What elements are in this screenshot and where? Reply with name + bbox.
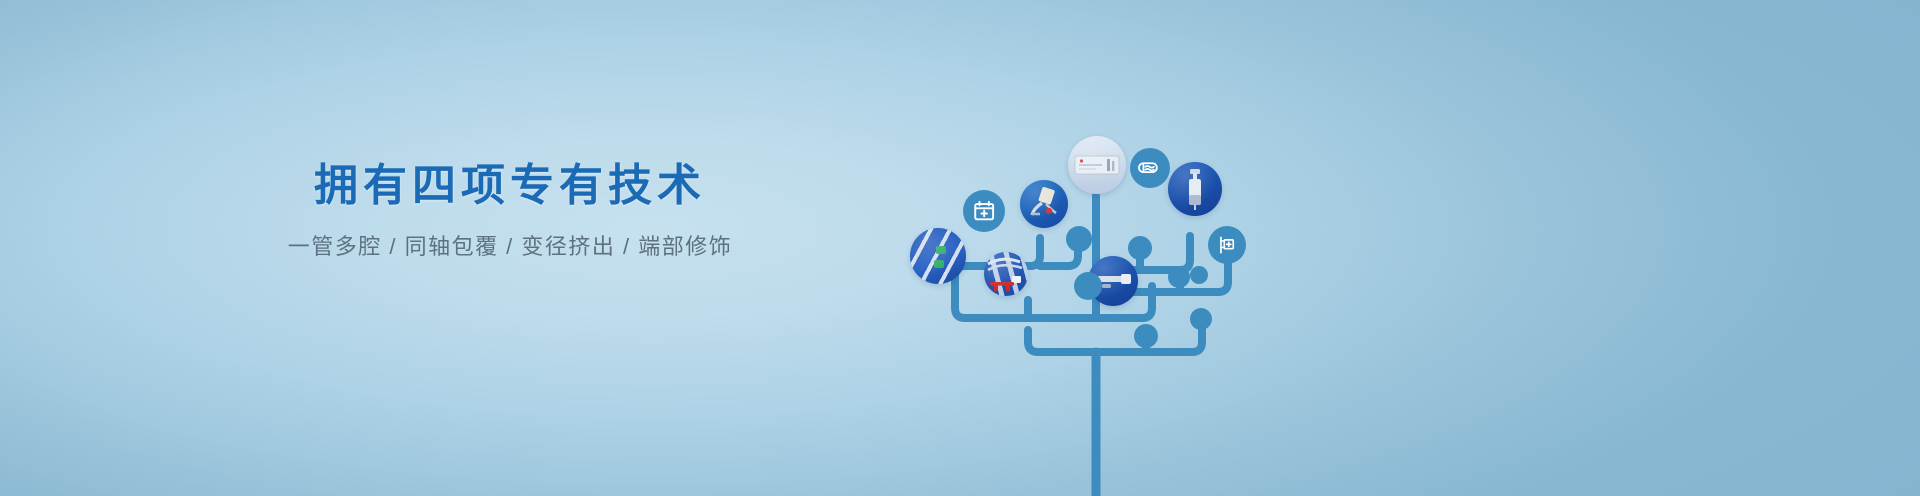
package-illustration	[1068, 136, 1126, 194]
hero-banner: 拥有四项专有技术 一管多腔 / 同轴包覆 / 变径挤出 / 端部修饰	[0, 0, 1920, 496]
branch-dot-mid	[1074, 272, 1102, 300]
hospital-sign-icon-node[interactable]: hospital-sign-icon-node	[1208, 226, 1246, 264]
hero-copy-block: 拥有四项专有技术 一管多腔 / 同轴包覆 / 变径挤出 / 端部修饰	[0, 160, 1020, 260]
face-mask-icon-node[interactable]: face-mask-icon-node	[1130, 148, 1170, 188]
branch-dot-upper-right	[1168, 266, 1190, 288]
syringe-illustration	[1168, 162, 1222, 216]
tubing-marker	[934, 260, 944, 268]
syringe-photo-node[interactable]: syringe-photo-node	[1168, 162, 1222, 216]
branch-dot-left	[1066, 226, 1092, 252]
branch-dot-right	[1134, 324, 1158, 348]
branch-dot-small-right	[1190, 266, 1208, 284]
branch-dot-center	[1128, 236, 1152, 260]
package-photo-node[interactable]: package-photo-node	[1068, 136, 1126, 194]
valve-illustration	[1020, 180, 1068, 228]
valve-photo-node[interactable]: valve-photo-node	[1020, 180, 1068, 228]
page-subtitle: 一管多腔 / 同轴包覆 / 变径挤出 / 端部修饰	[0, 234, 1020, 260]
face-mask-icon	[1138, 156, 1161, 179]
page-title: 拥有四项专有技术	[0, 160, 1020, 212]
branch-dot-lower-right	[1190, 308, 1212, 330]
hospital-sign-icon	[1216, 234, 1238, 256]
